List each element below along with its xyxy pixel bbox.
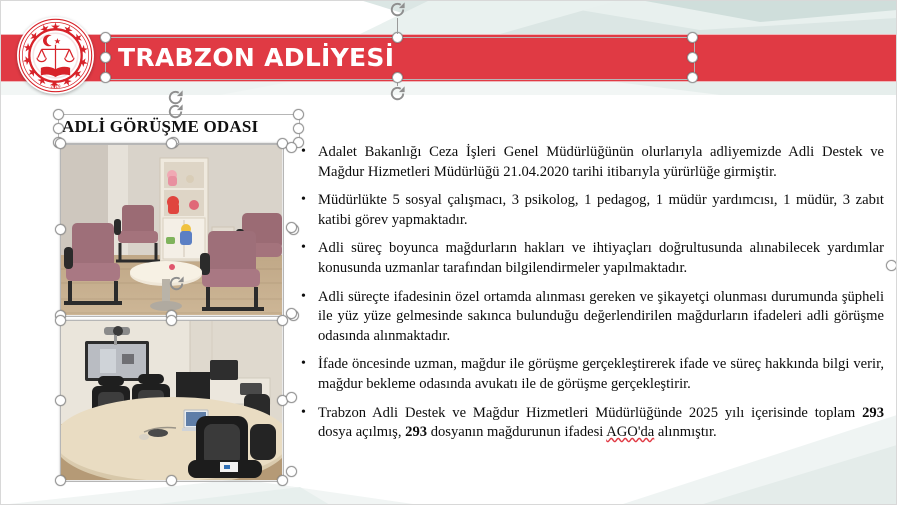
bullet-2: Müdürlükte 5 sosyal çalışmacı, 3 psikolo… xyxy=(296,191,884,230)
handle-title-tr[interactable] xyxy=(687,32,698,43)
bullet-3: Adli süreç boyunca mağdurların hakları v… xyxy=(296,239,884,278)
handle-body-mr-top[interactable] xyxy=(886,260,897,271)
handle-photo-meeting-bc[interactable] xyxy=(166,475,177,486)
svg-text:2019: 2019 xyxy=(50,84,61,89)
rotate-handle-title[interactable] xyxy=(388,84,407,103)
section-heading: ADLİ GÖRÜŞME ODASI xyxy=(62,117,258,137)
bullet-list: Adalet Bakanlığı Ceza İşleri Genel Müdür… xyxy=(296,143,884,443)
handle-photo-meeting-tl[interactable] xyxy=(55,315,66,326)
rotate-stem-group-top xyxy=(397,18,398,34)
handle-body-mr-mid[interactable] xyxy=(286,392,297,403)
handle-body-ml-bot[interactable] xyxy=(286,308,297,319)
handle-heading-tr[interactable] xyxy=(293,109,304,120)
handle-photo-room-tc[interactable] xyxy=(166,138,177,149)
bullet-4: Adli süreçte ifadesinin özel ortamda alı… xyxy=(296,288,884,347)
handle-title-bl[interactable] xyxy=(100,72,111,83)
bullet-6: Trabzon Adli Destek ve Mağdur Hizmetleri… xyxy=(296,404,884,443)
page-title: TRABZON ADLİYESİ xyxy=(118,42,394,74)
handle-body-mr-bot[interactable] xyxy=(286,466,297,477)
handle-photo-meeting-tc[interactable] xyxy=(166,315,177,326)
handle-photo-room-ml[interactable] xyxy=(55,224,66,235)
photo-room[interactable] xyxy=(60,143,282,315)
handle-body-ml-top[interactable] xyxy=(286,142,297,153)
photo-meeting[interactable] xyxy=(60,320,282,480)
handle-title-br[interactable] xyxy=(687,72,698,83)
handle-title-ml[interactable] xyxy=(100,52,111,63)
handle-photo-room-tl[interactable] xyxy=(55,138,66,149)
handle-heading-tl[interactable] xyxy=(53,109,64,120)
turkish-ministry-of-justice-emblem-icon: 2019 xyxy=(17,17,94,94)
handle-photo-meeting-ml[interactable] xyxy=(55,395,66,406)
rotate-handle-group-top[interactable] xyxy=(388,0,407,19)
bullet-5: İfade öncesinde uzman, mağdur ile görüşm… xyxy=(296,355,884,394)
handle-body-ml-mid[interactable] xyxy=(286,222,297,233)
rotate-handle-heading-alt[interactable] xyxy=(166,88,185,107)
handle-heading-mr[interactable] xyxy=(293,123,304,134)
handle-title-tl[interactable] xyxy=(100,32,111,43)
handle-photo-meeting-br[interactable] xyxy=(277,475,288,486)
spellcheck-misspelled-word: AGO'da xyxy=(606,424,654,440)
handle-title-mr[interactable] xyxy=(687,52,698,63)
bullet-1: Adalet Bakanlığı Ceza İşleri Genel Müdür… xyxy=(296,143,884,182)
handle-title-bc[interactable] xyxy=(392,72,403,83)
handle-photo-meeting-bl[interactable] xyxy=(55,475,66,486)
handle-heading-ml[interactable] xyxy=(53,123,64,134)
slide-canvas[interactable]: TRABZON ADLİYESİ xyxy=(0,0,897,505)
